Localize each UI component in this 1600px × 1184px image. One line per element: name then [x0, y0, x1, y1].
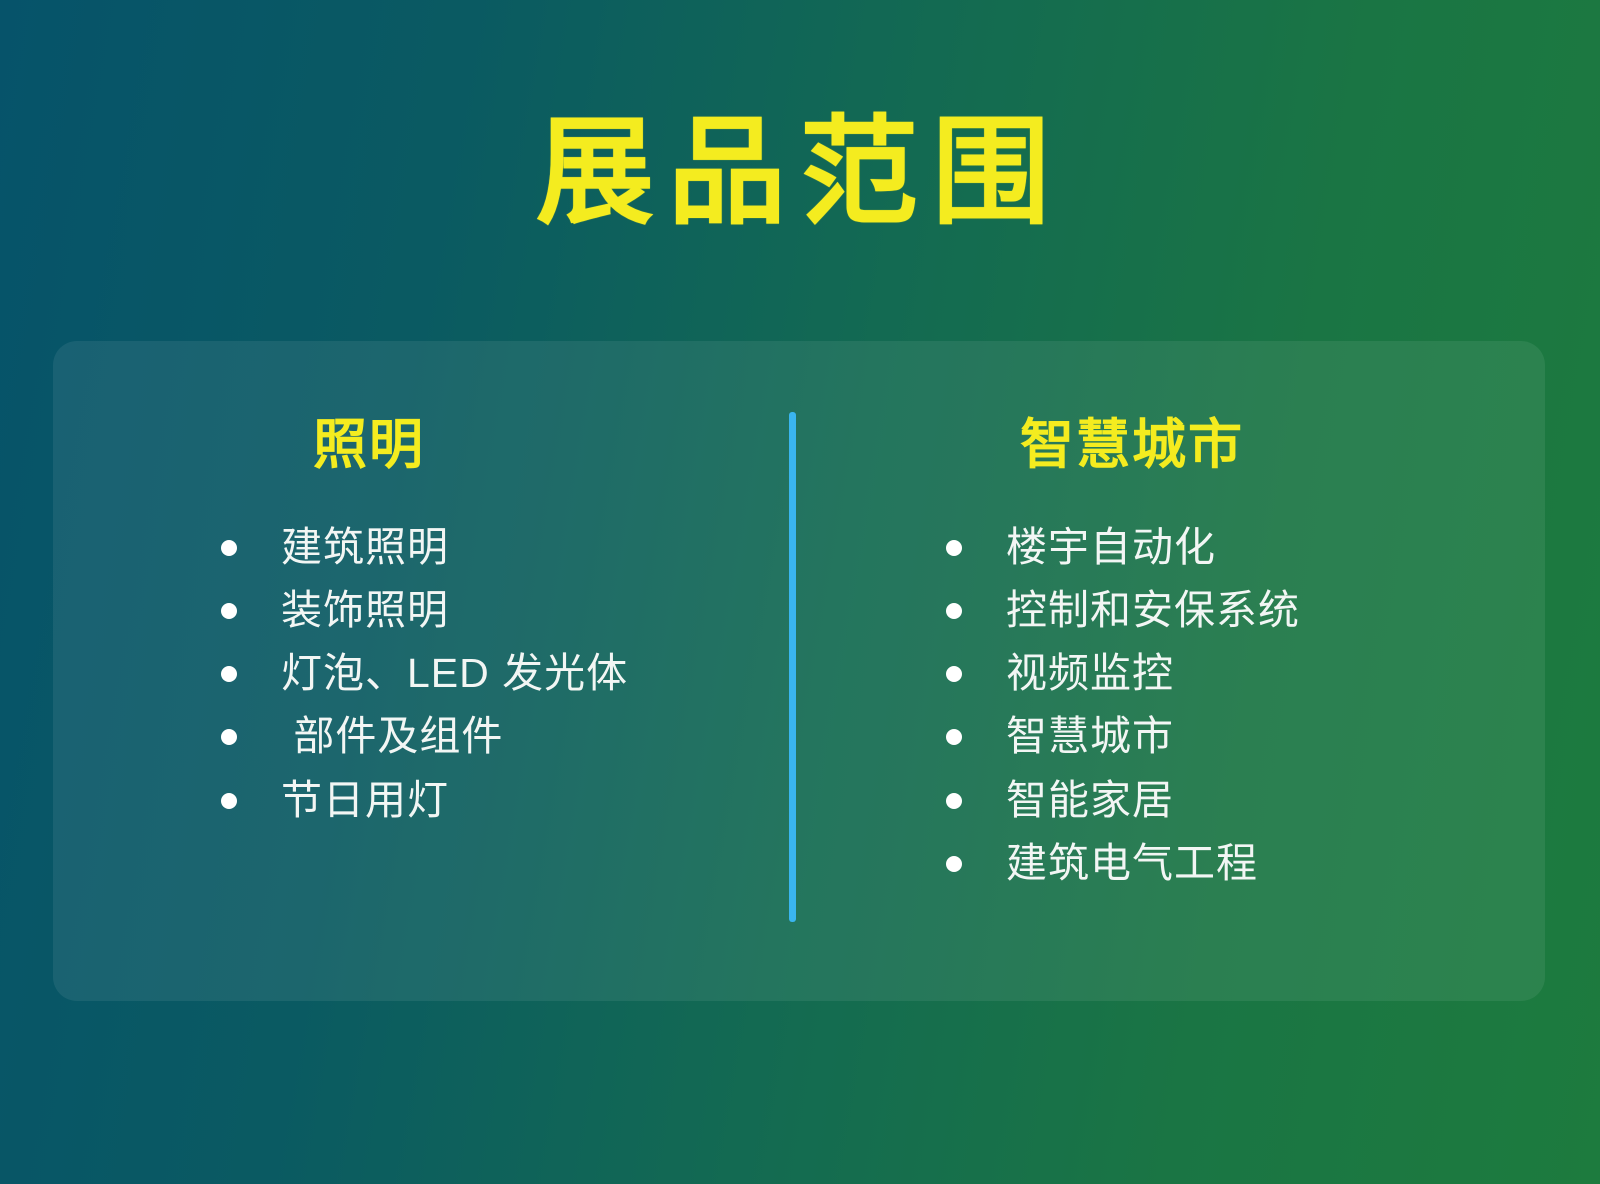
bullet-dot-icon: [221, 666, 237, 682]
column-smart-city: 智慧城市 楼宇自动化 控制和安保系统 视频监控 智慧城市 智能家居: [796, 341, 1545, 1001]
list-item-label: 部件及组件: [281, 713, 503, 760]
bullet-dot-icon: [946, 856, 962, 872]
list-item-label: 建筑电气工程: [1006, 840, 1258, 887]
column-smart-city-list: 楼宇自动化 控制和安保系统 视频监控 智慧城市 智能家居 建筑电气工程: [946, 524, 1300, 903]
list-item-label: 装饰照明: [281, 587, 449, 634]
list-item: 建筑照明: [221, 524, 628, 571]
bullet-dot-icon: [946, 729, 962, 745]
list-item: 灯泡、LED 发光体: [221, 650, 628, 697]
column-smart-city-heading: 智慧城市: [1020, 418, 1244, 472]
list-item-label: 智能家居: [1006, 777, 1174, 824]
list-item: 装饰照明: [221, 587, 628, 634]
list-item-label: 控制和安保系统: [1006, 587, 1300, 634]
list-item: 楼宇自动化: [946, 524, 1300, 571]
column-lighting-heading: 照明: [313, 418, 425, 472]
bullet-dot-icon: [221, 540, 237, 556]
list-item: 视频监控: [946, 650, 1300, 697]
slide-canvas: 展品范围 照明 建筑照明 装饰照明 灯泡、LED 发光体 部件及组件: [0, 0, 1600, 1184]
bullet-dot-icon: [946, 603, 962, 619]
list-item-label: 建筑照明: [281, 524, 449, 571]
list-item-label: 节日用灯: [281, 777, 449, 824]
bullet-dot-icon: [946, 793, 962, 809]
list-item: 部件及组件: [221, 713, 628, 760]
list-item-label: 视频监控: [1006, 650, 1174, 697]
bullet-dot-icon: [221, 793, 237, 809]
list-item: 节日用灯: [221, 777, 628, 824]
list-item: 控制和安保系统: [946, 587, 1300, 634]
page-title: 展品范围: [0, 104, 1600, 240]
column-lighting-list: 建筑照明 装饰照明 灯泡、LED 发光体 部件及组件 节日用灯: [221, 524, 628, 840]
list-item: 智能家居: [946, 777, 1300, 824]
column-lighting: 照明 建筑照明 装饰照明 灯泡、LED 发光体 部件及组件 节日用灯: [53, 341, 789, 1001]
list-item-label: 智慧城市: [1006, 713, 1174, 760]
bullet-dot-icon: [946, 666, 962, 682]
bullet-dot-icon: [946, 540, 962, 556]
list-item-label: 灯泡、LED 发光体: [281, 650, 628, 697]
list-item: 智慧城市: [946, 713, 1300, 760]
list-item-label: 楼宇自动化: [1006, 524, 1216, 571]
bullet-dot-icon: [221, 603, 237, 619]
bullet-dot-icon: [221, 729, 237, 745]
list-item: 建筑电气工程: [946, 840, 1300, 887]
column-divider: [789, 412, 796, 922]
